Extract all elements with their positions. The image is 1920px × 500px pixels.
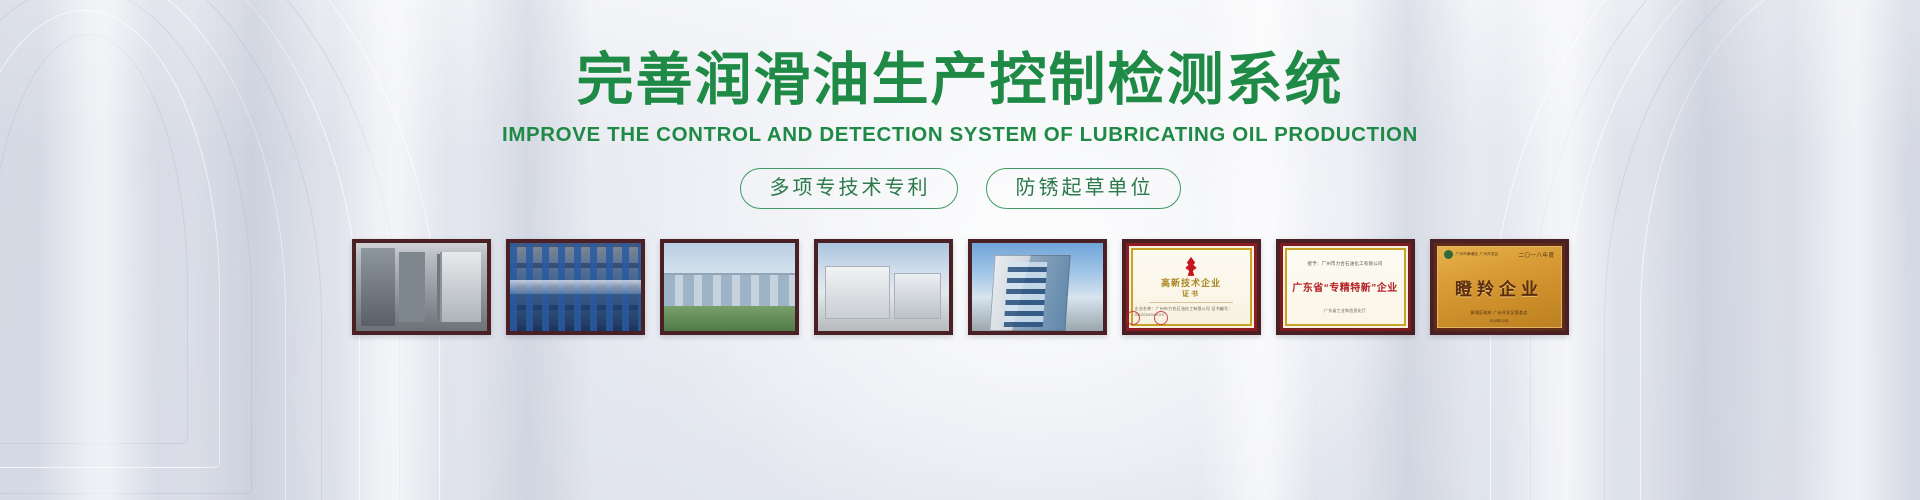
divider xyxy=(1149,302,1233,303)
gallery-item-specialized-new-certificate[interactable]: 授予：广州市力合石油化工有限公司 广东省“专精特新”企业 广东省工业和信息化厅 xyxy=(1276,239,1415,335)
pipe-valve-rack-photo xyxy=(510,243,641,331)
badge-antirust-standard[interactable]: 防锈起草单位 xyxy=(986,168,1181,209)
office-building-photo xyxy=(972,243,1103,331)
gallery-item-tank-farm[interactable] xyxy=(660,239,799,335)
certificate-subtitle: 证书 xyxy=(1182,289,1200,299)
feature-badge-group: 多项专技术专利 防锈起草单位 xyxy=(740,168,1181,209)
certificate-title: 高新技术企业 xyxy=(1161,278,1221,289)
badge-patents[interactable]: 多项专技术专利 xyxy=(740,168,958,209)
seal-stamp-icon xyxy=(1126,311,1140,325)
gallery-item-factory-buildings[interactable] xyxy=(814,239,953,335)
gallery-item-production-line[interactable] xyxy=(352,239,491,335)
gallery-item-gazelle-plaque[interactable]: 广州市黄埔区 广州开发区 二〇一八年度 瞪羚企业 黄埔区政府 广州开发区管委会 … xyxy=(1430,239,1569,335)
gallery-item-office-building[interactable] xyxy=(968,239,1107,335)
storage-tank-farm-photo xyxy=(664,243,795,331)
high-tech-enterprise-certificate: 高新技术企业 证书 企业名称：广州市力合石油化工有限公司 证书编号：GR2019… xyxy=(1126,243,1257,331)
plaque-date: 2018年12月 xyxy=(1434,319,1565,324)
specialized-new-enterprise-certificate: 授予：广州市力合石油化工有限公司 广东省“专精特新”企业 广东省工业和信息化厅 xyxy=(1280,243,1411,331)
seal-stamp-icon xyxy=(1154,311,1168,325)
plaque-title: 瞪羚企业 xyxy=(1455,275,1543,300)
seal-group xyxy=(1126,311,1168,325)
flame-icon xyxy=(1184,257,1199,276)
gazelle-enterprise-plaque: 广州市黄埔区 广州开发区 二〇一八年度 瞪羚企业 黄埔区政府 广州开发区管委会 … xyxy=(1434,243,1565,331)
gallery-strip: 高新技术企业 证书 企业名称：广州市力合石油化工有限公司 证书编号：GR2019… xyxy=(352,239,1569,335)
certificate-awardee: 授予：广州市力合石油化工有限公司 xyxy=(1307,261,1382,267)
certificate-title: 广东省“专精特新”企业 xyxy=(1292,279,1398,294)
page-subtitle: IMPROVE THE CONTROL AND DETECTION SYSTEM… xyxy=(502,123,1418,147)
factory-buildings-photo xyxy=(818,243,949,331)
production-line-photo xyxy=(356,243,487,331)
plaque-issuer: 黄埔区政府 广州开发区管委会 xyxy=(1434,310,1565,316)
gallery-item-high-tech-certificate[interactable]: 高新技术企业 证书 企业名称：广州市力合石油化工有限公司 证书编号：GR2019… xyxy=(1122,239,1261,335)
certificate-issuer: 广东省工业和信息化厅 xyxy=(1324,308,1366,314)
hero-banner: 完善润滑油生产控制检测系统 IMPROVE THE CONTROL AND DE… xyxy=(0,0,1920,500)
page-title: 完善润滑油生产控制检测系统 xyxy=(577,52,1344,109)
gallery-item-pipe-valve-rack[interactable] xyxy=(506,239,645,335)
